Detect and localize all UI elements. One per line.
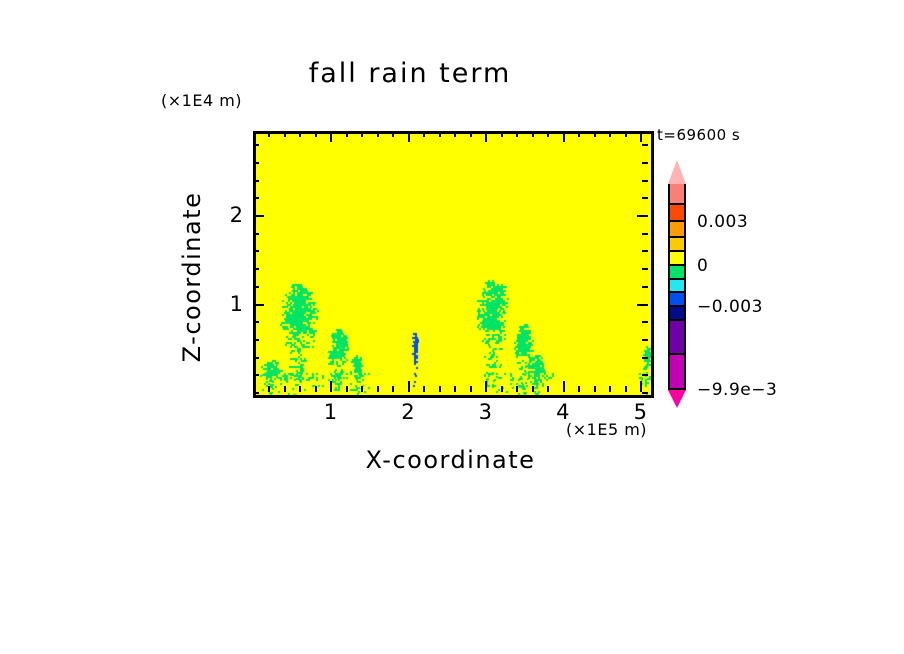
x-minor-tick: [578, 386, 580, 392]
colorbar-band-orange-red: [668, 205, 686, 222]
x-minor-tick: [423, 386, 425, 392]
y-minor-tick-right: [642, 357, 648, 359]
y-minor-tick-right: [642, 321, 648, 323]
y-minor-tick: [253, 144, 259, 146]
x-minor-tick: [315, 386, 317, 392]
y-minor-tick: [253, 357, 259, 359]
y-minor-tick-right: [642, 180, 648, 182]
x-major-tick-top: [330, 131, 332, 142]
y-minor-tick-right: [642, 144, 648, 146]
x-minor-tick-top: [423, 131, 425, 137]
y-minor-tick-right: [642, 339, 648, 341]
y-minor-tick: [253, 374, 259, 376]
y-minor-tick: [253, 339, 259, 341]
x-minor-tick: [361, 386, 363, 392]
chart-title: fall rain term: [0, 58, 862, 89]
x-minor-tick: [625, 386, 627, 392]
y-minor-tick: [253, 321, 259, 323]
colorbar-overflow-arrow-top: [668, 160, 686, 184]
x-axis-title: X-coordinate: [253, 446, 648, 474]
y-minor-tick: [253, 392, 259, 394]
x-minor-tick: [501, 386, 503, 392]
y-major-tick-right: [637, 304, 648, 306]
x-major-tick: [640, 381, 642, 392]
x-minor-tick-top: [284, 131, 286, 137]
y-major-tick: [253, 215, 264, 217]
x-minor-tick: [547, 386, 549, 392]
x-major-tick: [408, 381, 410, 392]
y-minor-tick-right: [642, 374, 648, 376]
y-minor-tick: [253, 286, 259, 288]
x-major-tick-top: [408, 131, 410, 142]
colorbar-tick-label: −0.003: [697, 297, 763, 317]
y-minor-tick: [253, 180, 259, 182]
x-major-tick-top: [485, 131, 487, 142]
y-minor-tick-right: [642, 392, 648, 394]
x-minor-tick-top: [501, 131, 503, 137]
x-minor-tick-top: [594, 131, 596, 137]
x-major-tick: [485, 381, 487, 392]
x-minor-tick: [454, 386, 456, 392]
x-major-tick: [563, 381, 565, 392]
x-tick-label: 2: [401, 400, 414, 424]
x-minor-tick: [299, 386, 301, 392]
x-minor-tick: [377, 386, 379, 392]
y-minor-tick-right: [642, 233, 648, 235]
x-minor-tick: [609, 386, 611, 392]
x-minor-tick: [439, 386, 441, 392]
x-tick-label: 1: [324, 400, 337, 424]
x-minor-tick-top: [439, 131, 441, 137]
y-tick-label: 2: [215, 203, 243, 227]
y-axis-title: Z-coordinate: [178, 152, 206, 402]
colorbar-tick-label: 0.003: [697, 212, 748, 232]
x-major-tick-top: [563, 131, 565, 142]
y-axis-units-label: (×1E4 m): [161, 91, 242, 110]
x-minor-tick: [594, 386, 596, 392]
colorbar-band-navy: [668, 307, 686, 321]
y-minor-tick-right: [642, 162, 648, 164]
y-minor-tick-right: [642, 268, 648, 270]
x-minor-tick: [346, 386, 348, 392]
colorbar-band-amber: [668, 238, 686, 252]
colorbar-band-salmon: [668, 184, 686, 205]
x-minor-tick-top: [299, 131, 301, 137]
colorbar-band-magenta: [668, 355, 686, 390]
y-major-tick: [253, 304, 264, 306]
x-tick-label: 5: [634, 400, 647, 424]
colorbar-tick-label: −9.9e−3: [697, 380, 777, 400]
x-tick-label: 3: [479, 400, 492, 424]
x-minor-tick-top: [609, 131, 611, 137]
x-minor-tick: [470, 386, 472, 392]
y-minor-tick: [253, 250, 259, 252]
x-minor-tick: [532, 386, 534, 392]
y-minor-tick: [253, 197, 259, 199]
x-minor-tick-top: [547, 131, 549, 137]
x-minor-tick-top: [625, 131, 627, 137]
contour-field: [256, 134, 651, 395]
x-tick-label: 4: [556, 400, 569, 424]
y-minor-tick-right: [642, 286, 648, 288]
colorbar-band-blue: [668, 293, 686, 307]
x-major-tick: [330, 381, 332, 392]
x-minor-tick-top: [470, 131, 472, 137]
colorbar-band-orange: [668, 222, 686, 238]
y-minor-tick: [253, 162, 259, 164]
x-minor-tick-top: [315, 131, 317, 137]
colorbar-band-purple: [668, 321, 686, 355]
x-minor-tick-top: [346, 131, 348, 137]
y-minor-tick: [253, 233, 259, 235]
x-major-tick-top: [640, 131, 642, 142]
y-tick-label: 1: [215, 292, 243, 316]
y-minor-tick: [253, 268, 259, 270]
colorbar-band-yellow: [668, 252, 686, 266]
x-minor-tick: [284, 386, 286, 392]
x-minor-tick: [516, 386, 518, 392]
x-minor-tick-top: [578, 131, 580, 137]
x-minor-tick-top: [361, 131, 363, 137]
colorbar-band-cyan: [668, 280, 686, 293]
colorbar-tick-label: 0: [697, 256, 708, 276]
figure-canvas: fall rain term (×1E4 m) (×1E5 m) t=69600…: [0, 0, 904, 654]
x-minor-tick: [392, 386, 394, 392]
x-minor-tick-top: [454, 131, 456, 137]
y-minor-tick-right: [642, 197, 648, 199]
x-minor-tick-top: [377, 131, 379, 137]
x-minor-tick-top: [253, 131, 255, 137]
plot-area: [253, 131, 654, 398]
x-minor-tick-top: [268, 131, 270, 137]
y-minor-tick-right: [642, 250, 648, 252]
timestamp-label: t=69600 s: [657, 126, 740, 144]
colorbar-underflow-arrow-bottom: [668, 390, 686, 408]
y-major-tick-right: [637, 215, 648, 217]
colorbar-band-green: [668, 266, 686, 280]
x-minor-tick: [268, 386, 270, 392]
x-minor-tick-top: [516, 131, 518, 137]
colorbar: [668, 160, 686, 408]
x-minor-tick-top: [532, 131, 534, 137]
x-minor-tick-top: [392, 131, 394, 137]
